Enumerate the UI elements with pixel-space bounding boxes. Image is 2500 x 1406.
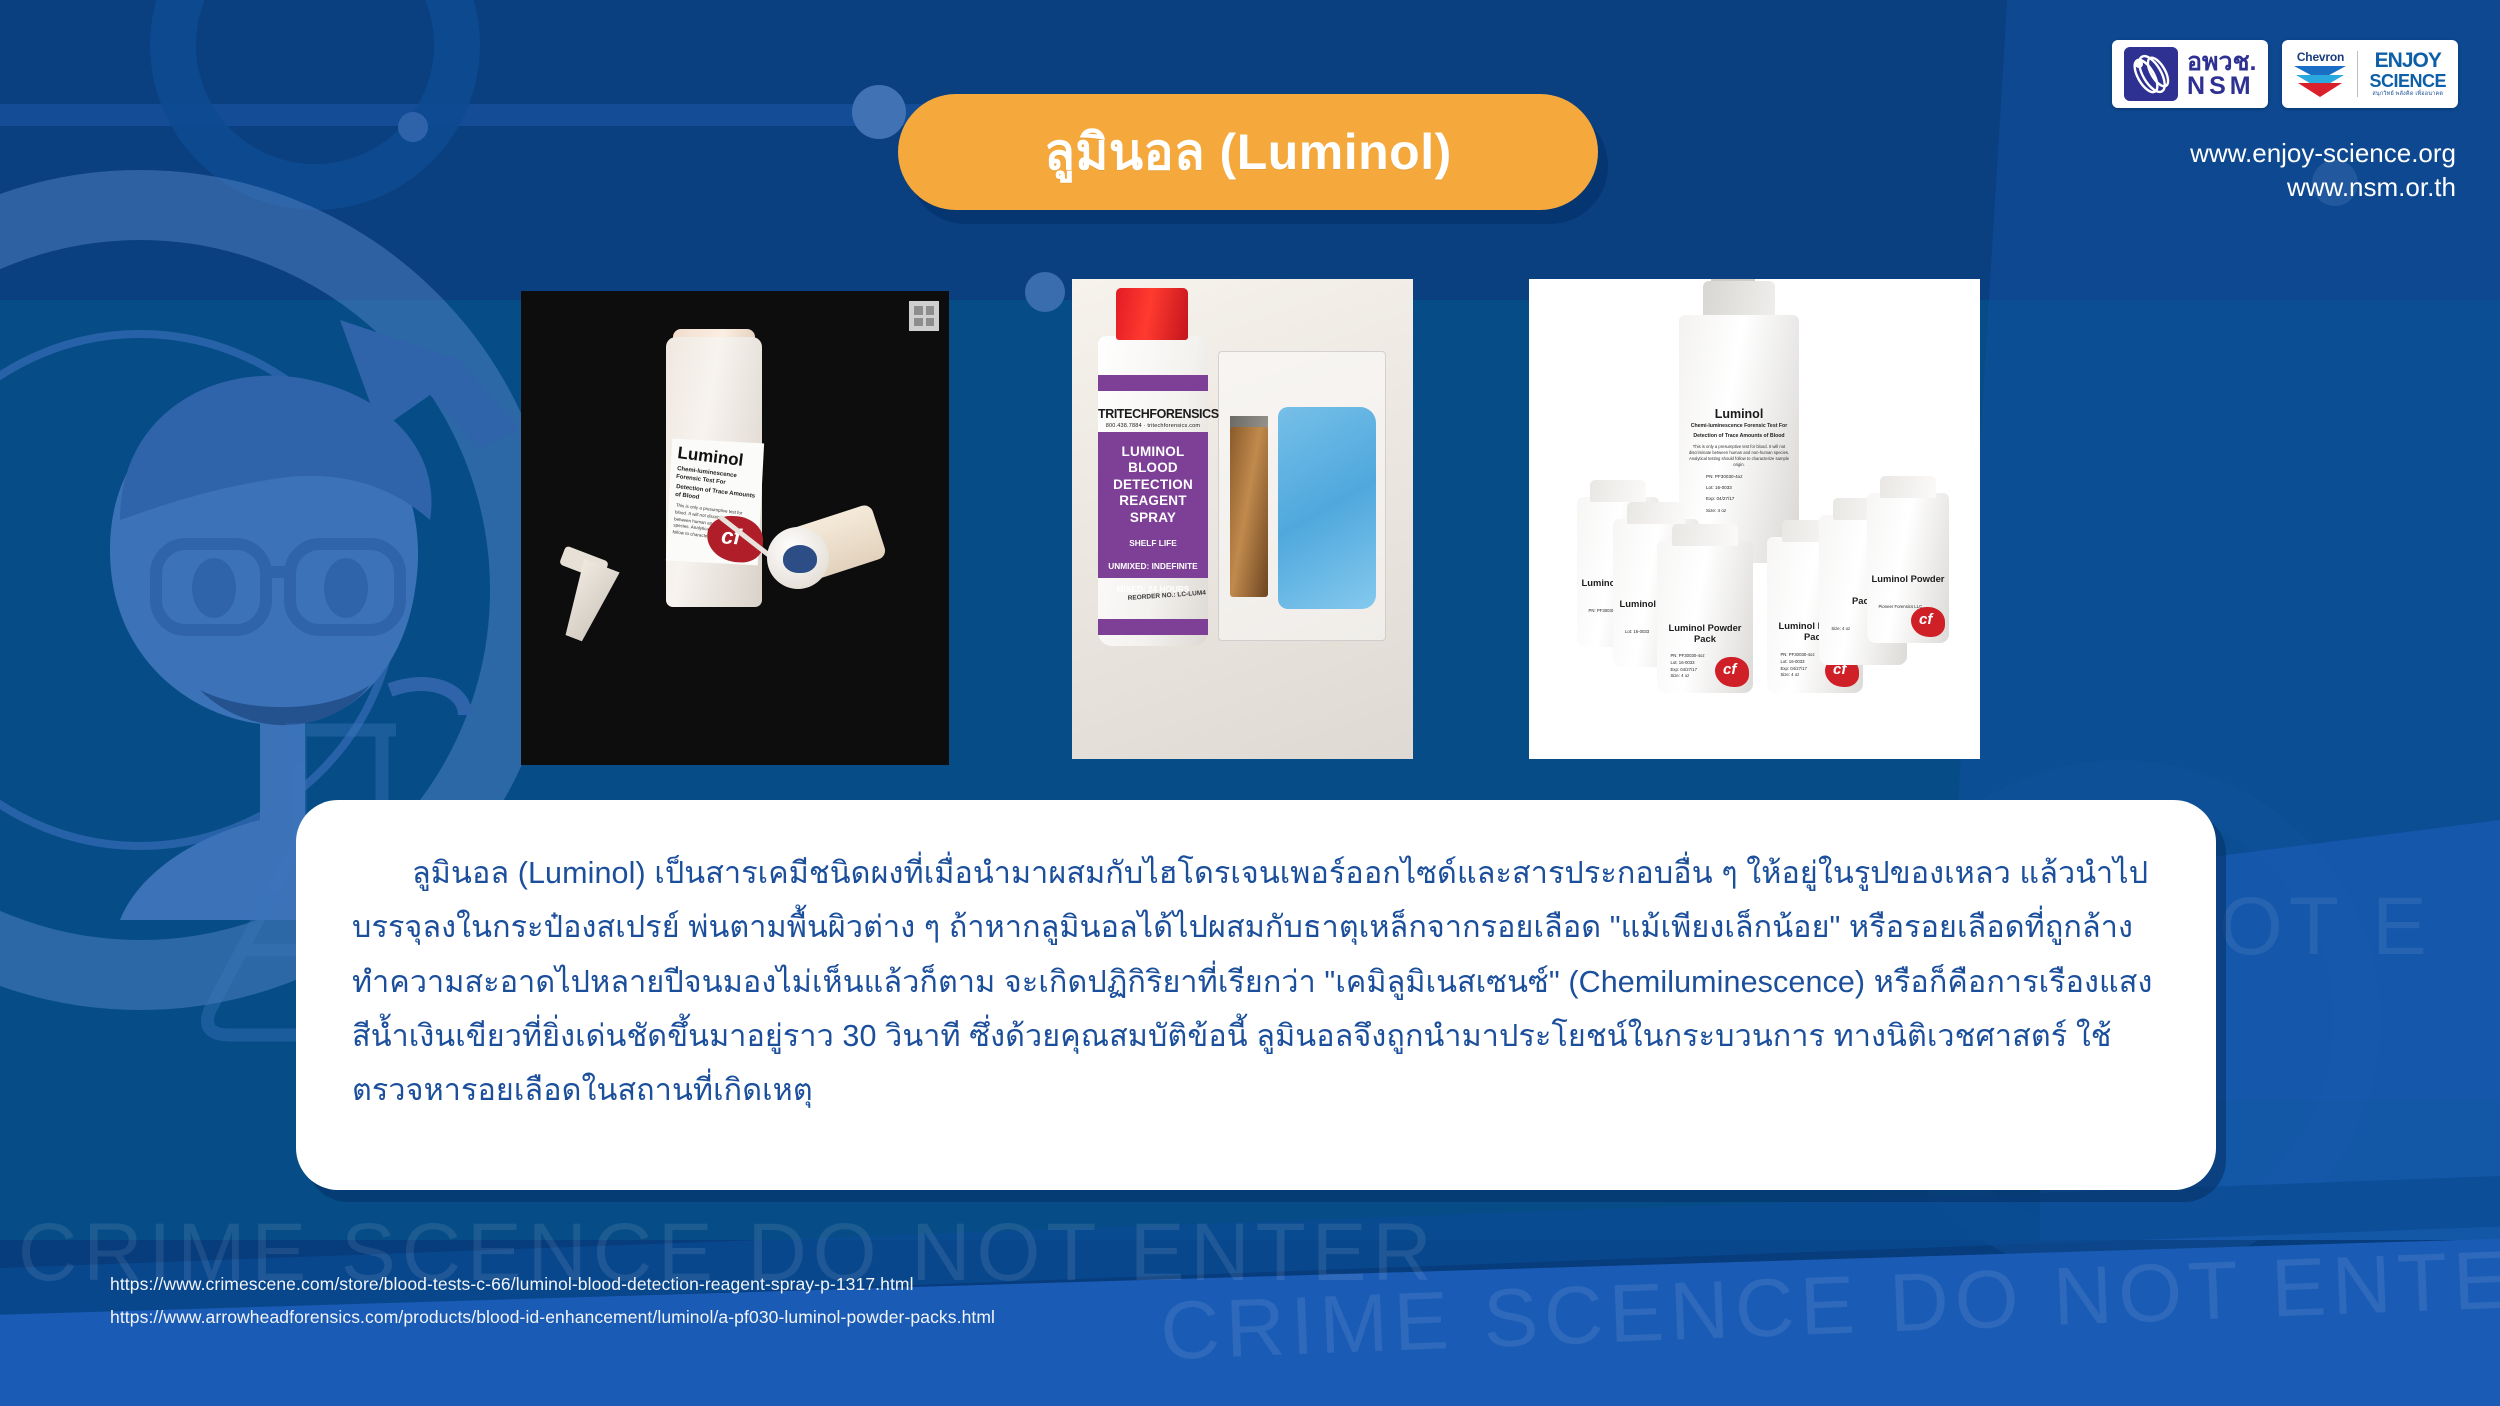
spray-lot: Lot: 16-0033 bbox=[1684, 484, 1794, 491]
decorative-dot-3 bbox=[398, 112, 428, 142]
amber-vial bbox=[1230, 427, 1268, 597]
source-url-1[interactable]: https://www.crimescene.com/store/blood-t… bbox=[110, 1268, 995, 1301]
jar-meta-2: Lot: 16-0033 bbox=[1625, 629, 1649, 636]
chevron-label: Chevron bbox=[2297, 50, 2344, 64]
jar-lid bbox=[1590, 480, 1646, 502]
jar-name-line1: Luminol Powder bbox=[1669, 622, 1742, 633]
tritech-brand-text: TRITECHFORENSICS bbox=[1098, 407, 1219, 421]
decorative-dot-1 bbox=[852, 85, 906, 139]
jar-size: Size: 4 oz bbox=[1670, 673, 1689, 678]
page-title: ลูมินอล (Luminol) bbox=[898, 94, 1598, 210]
nsm-logo: อพวช. NSM bbox=[2112, 40, 2268, 108]
jar-meta-5: Size: 4 oz bbox=[1831, 626, 1850, 633]
spray-bottle-red-cap bbox=[1116, 288, 1188, 340]
jar-size: Size: 4 oz bbox=[1831, 626, 1850, 631]
description-paragraph: ลูมินอล (Luminol) เป็นสารเคมีชนิดผงที่เม… bbox=[352, 846, 2160, 1117]
expand-icon-q4 bbox=[926, 318, 935, 327]
cf-logo-letters: cf bbox=[1723, 662, 1736, 677]
shelf-life-title: SHELF LIFE bbox=[1098, 538, 1208, 549]
photo-luminol-bottle: Luminol Chemi-luminescence Forensic Test… bbox=[521, 291, 949, 765]
cf-logo-letters: cf bbox=[1919, 612, 1932, 627]
label-stripe-top bbox=[1098, 375, 1208, 391]
jar-lid bbox=[1627, 502, 1685, 524]
jar-vendor: Pioneer Forensics LLC bbox=[1878, 604, 1922, 609]
jar-meta-4: PN: PF30030-4oz Lot: 16-0033 Exp: 04/27/… bbox=[1780, 652, 1814, 679]
spray-body: This is only a presumptive test for bloo… bbox=[1684, 444, 1794, 469]
cf-logo-icon: cf bbox=[706, 515, 764, 564]
large-spray-label: Luminol Chemi-luminescence Forensic Test… bbox=[1684, 407, 1794, 514]
blue-glove bbox=[1278, 407, 1376, 609]
jar-size: Size: 4 oz bbox=[1780, 672, 1799, 677]
logo-bar: อพวช. NSM Chevron ENJOY SCIENCE สนุกวิทย… bbox=[2112, 40, 2458, 108]
header-urls: www.enjoy-science.org www.nsm.or.th bbox=[2190, 136, 2456, 205]
chevron-enjoy-science-logo: Chevron ENJOY SCIENCE สนุกวิทย์ พลังคิด … bbox=[2282, 40, 2458, 108]
nsm-logo-text: อพวช. NSM bbox=[2187, 50, 2256, 98]
spray-nozzle-inner bbox=[783, 545, 817, 573]
url-enjoy-science[interactable]: www.enjoy-science.org bbox=[2190, 136, 2456, 170]
label-stripe-bottom bbox=[1098, 619, 1208, 635]
jar-lot: Lot: 16-0033 bbox=[1780, 659, 1804, 664]
powder-jar-3: Luminol Powder Pack PN: PF30030-4oz Lot:… bbox=[1657, 541, 1753, 693]
logo-divider bbox=[2357, 51, 2358, 97]
product-name-panel: LUMINOL BLOOD DETECTION REAGENT SPRAY SH… bbox=[1098, 432, 1208, 578]
product-line-1: LUMINOL bbox=[1098, 444, 1208, 460]
decorative-dot-2 bbox=[1025, 272, 1065, 312]
tritech-brand: TRITECHFORENSICS 800.438.7884 · tritechf… bbox=[1098, 407, 1208, 429]
jar-exp: Exp: 04/27/17 bbox=[1670, 667, 1697, 672]
jar-lid bbox=[1672, 524, 1737, 546]
bottle-label: Luminol Chemi-luminescence Forensic Test… bbox=[666, 439, 764, 566]
expand-icon-q2 bbox=[926, 306, 935, 315]
expand-icon-q3 bbox=[914, 318, 923, 327]
powder-jar-6: Luminol Powder Pioneer Forensics LLC cf bbox=[1867, 493, 1949, 643]
enjoy-science-tagline: สนุกวิทย์ พลังคิด เพื่ออนาคต bbox=[2372, 92, 2443, 98]
spray-sub2: Detection of Trace Amounts of Blood bbox=[1684, 433, 1794, 441]
tritech-contact: 800.438.7884 · tritechforensics.com bbox=[1098, 423, 1208, 429]
product-line-2: BLOOD bbox=[1098, 460, 1208, 476]
jar-meta-3: PN: PF30030-4oz Lot: 16-0033 Exp: 04/27/… bbox=[1670, 653, 1704, 680]
spray-size: Size: 4 oz bbox=[1684, 507, 1794, 514]
spray-exp: Exp: 04/27/17 bbox=[1684, 495, 1794, 502]
enjoy-science-logo: ENJOY SCIENCE สนุกวิทย์ พลังคิด เพื่ออนา… bbox=[2369, 50, 2446, 98]
jar-lot: Lot: 16-0033 bbox=[1625, 629, 1649, 634]
product-line-3: DETECTION bbox=[1098, 477, 1208, 493]
cf-logo-icon: cf bbox=[1911, 607, 1945, 637]
source-urls: https://www.crimescene.com/store/blood-t… bbox=[110, 1268, 995, 1335]
expand-icon[interactable] bbox=[909, 301, 939, 331]
jar-lid bbox=[1880, 476, 1936, 498]
chevron-hallmark-icon bbox=[2294, 64, 2346, 98]
cf-logo-icon: cf bbox=[1715, 657, 1749, 687]
chevron-logo: Chevron bbox=[2294, 50, 2346, 98]
source-url-2[interactable]: https://www.arrowheadforensics.com/produ… bbox=[110, 1301, 995, 1334]
shelf-life-unmixed: UNMIXED: INDEFINITE bbox=[1098, 561, 1208, 572]
photo-luminol-powder-packs: Luminol Chemi-luminescence Forensic Test… bbox=[1529, 279, 1980, 759]
jar-name-line2: Pack bbox=[1694, 633, 1716, 644]
spray-sub1: Chemi-luminescence Forensic Test For bbox=[1684, 423, 1794, 431]
nsm-en-label: NSM bbox=[2187, 74, 2256, 98]
spray-brand: Luminol bbox=[1684, 407, 1794, 421]
jar-name-line1: Luminol Powder bbox=[1872, 573, 1945, 584]
description-card: ลูมินอล (Luminol) เป็นสารเคมีชนิดผงที่เม… bbox=[296, 800, 2216, 1190]
science-label: SCIENCE bbox=[2369, 72, 2446, 90]
expand-icon-q1 bbox=[914, 306, 923, 315]
page-title-text: ลูมินอล (Luminol) bbox=[1044, 113, 1452, 192]
nsm-emblem-icon bbox=[2124, 47, 2178, 101]
jar-name-6: Luminol Powder bbox=[1867, 574, 1949, 585]
jar-lot: Lot: 16-0033 bbox=[1670, 660, 1694, 665]
enjoy-label: ENJOY bbox=[2375, 50, 2441, 71]
micro-tube bbox=[556, 559, 619, 645]
jar-pn: PN: PF30030-4oz bbox=[1780, 652, 1814, 657]
spray-pn: PN: PF30030-4oz bbox=[1684, 473, 1794, 480]
nsm-thai-label: อพวช. bbox=[2187, 50, 2256, 74]
jar-pn: PN: PF30030-4oz bbox=[1670, 653, 1704, 658]
jar-name-3: Luminol Powder Pack bbox=[1657, 623, 1753, 645]
photo-tritech-spray-kit: TRITECHFORENSICS 800.438.7884 · tritechf… bbox=[1072, 279, 1413, 759]
jar-exp: Exp: 04/27/17 bbox=[1780, 666, 1807, 671]
product-line-4: REAGENT SPRAY bbox=[1098, 493, 1208, 526]
url-nsm[interactable]: www.nsm.or.th bbox=[2190, 170, 2456, 204]
